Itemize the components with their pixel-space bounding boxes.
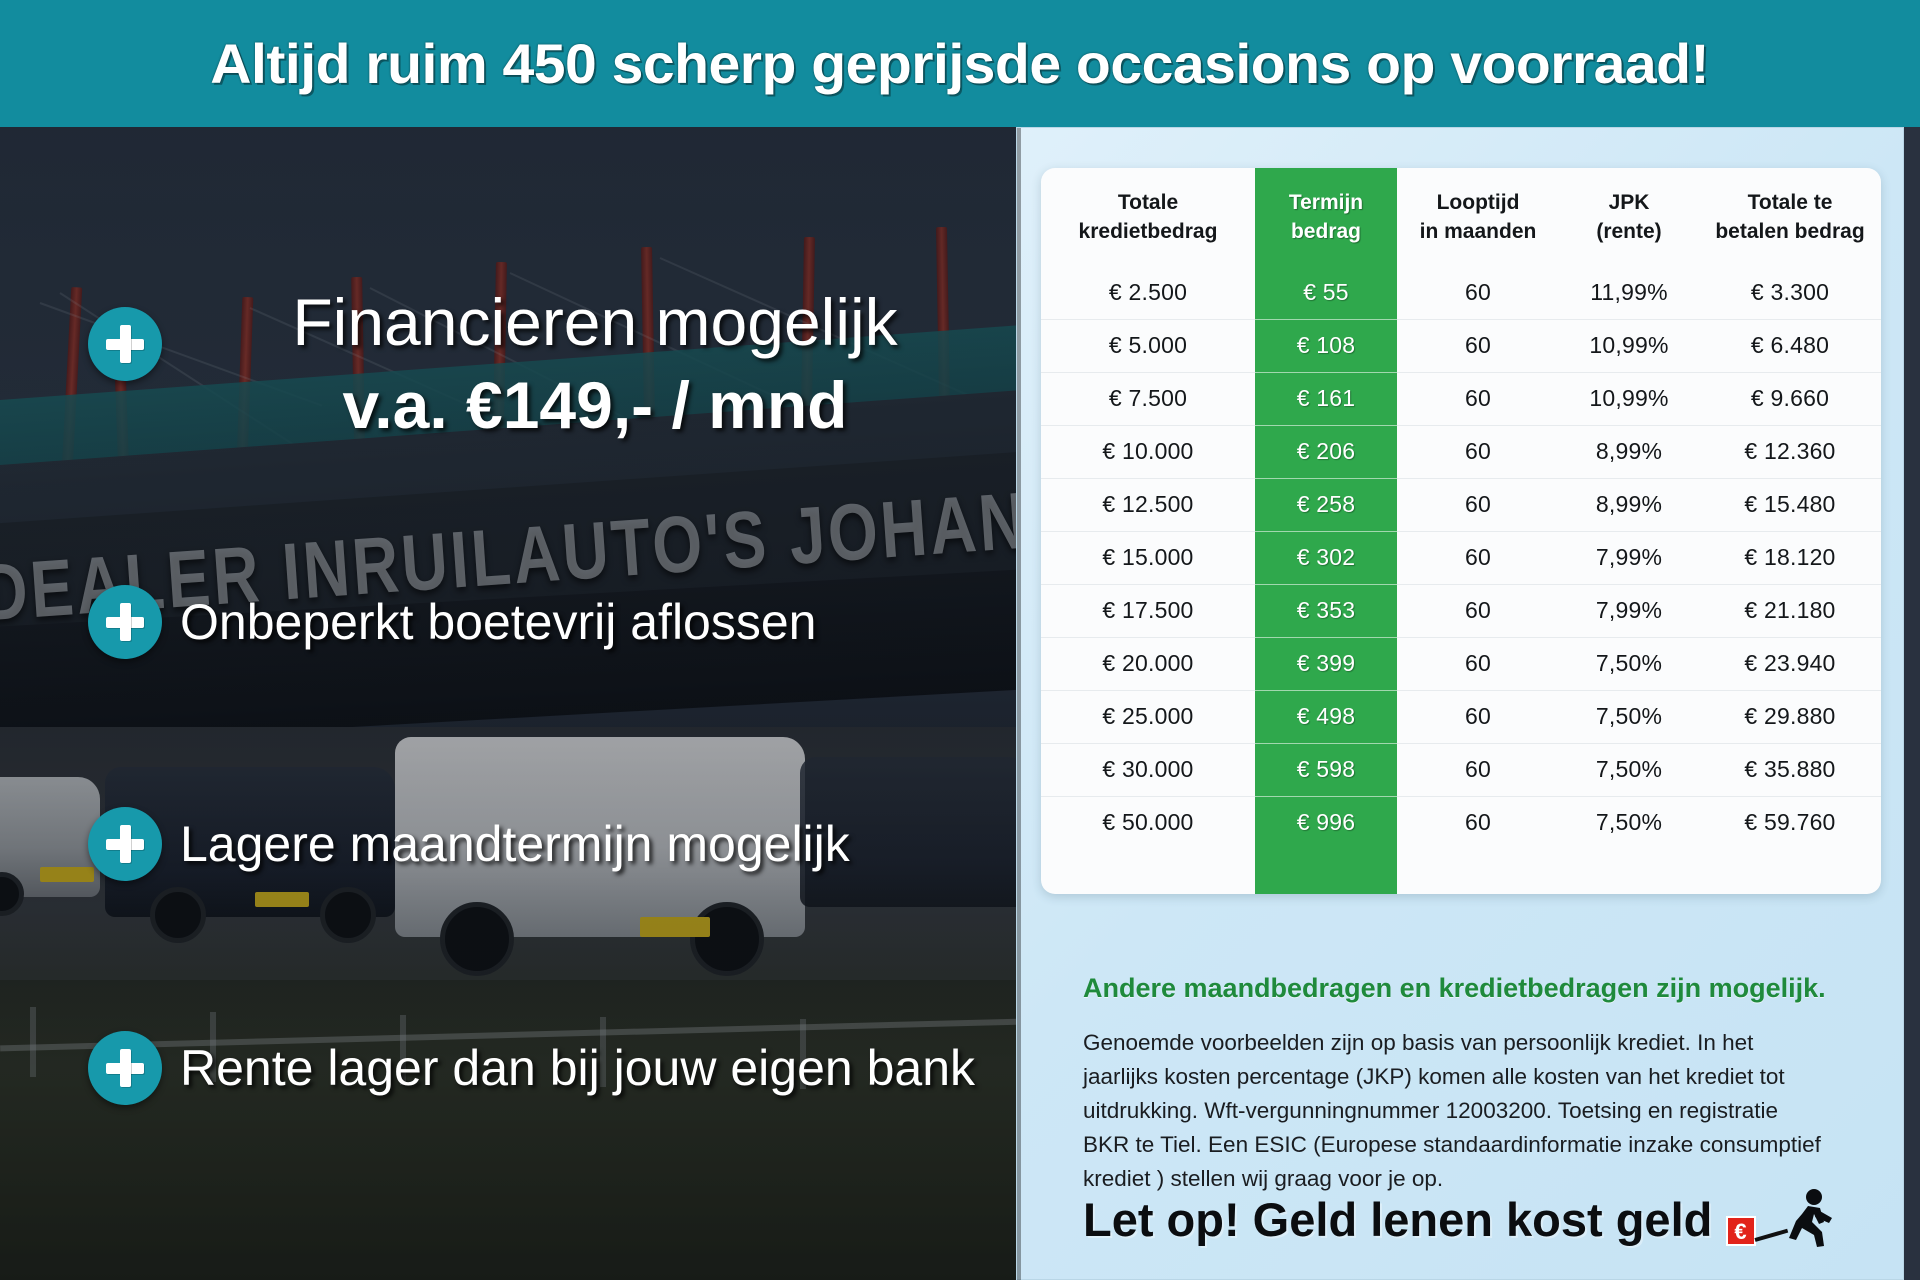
table-cell: 7,99% bbox=[1559, 584, 1699, 637]
table-cell: € 7.500 bbox=[1041, 372, 1255, 425]
table-cell: 8,99% bbox=[1559, 478, 1699, 531]
table-cell: € 9.660 bbox=[1699, 372, 1881, 425]
table-header-row: Totale kredietbedrag Termijn bedrag Loop… bbox=[1041, 168, 1881, 266]
table-cell: 60 bbox=[1397, 266, 1559, 319]
table-row: € 15.000€ 302607,99%€ 18.120 bbox=[1041, 531, 1881, 584]
table-cell: € 15.000 bbox=[1041, 531, 1255, 584]
table-cell: € 353 bbox=[1255, 584, 1397, 637]
table-row: € 10.000€ 206608,99%€ 12.360 bbox=[1041, 425, 1881, 478]
benefit-item-3: Rente lager dan bij jouw eigen bank bbox=[180, 1039, 975, 1097]
page-title: Financieren mogelijk v.a. €149,- / mnd bbox=[180, 282, 1010, 448]
table-cell: € 996 bbox=[1255, 796, 1397, 849]
table-cell: € 17.500 bbox=[1041, 584, 1255, 637]
table-cell: € 12.360 bbox=[1699, 425, 1881, 478]
table-cell: € 12.500 bbox=[1041, 478, 1255, 531]
table-cell: 7,50% bbox=[1559, 743, 1699, 796]
top-banner: Altijd ruim 450 scherp geprijsde occasio… bbox=[0, 0, 1920, 127]
table-cell: € 498 bbox=[1255, 690, 1397, 743]
plus-icon bbox=[88, 807, 162, 881]
column-header-looptijd: Looptijd in maanden bbox=[1397, 168, 1559, 266]
table-cell: 10,99% bbox=[1559, 372, 1699, 425]
benefit-item-2: Lagere maandtermijn mogelijk bbox=[180, 815, 850, 873]
left-content: Financieren mogelijk v.a. €149,- / mnd O… bbox=[0, 127, 1018, 1280]
table-row: € 2.500€ 556011,99%€ 3.300 bbox=[1041, 266, 1881, 319]
column-header-termijn-bedrag: Termijn bedrag bbox=[1255, 168, 1397, 266]
panel-left-edge bbox=[1017, 128, 1021, 1280]
table-row: € 20.000€ 399607,50%€ 23.940 bbox=[1041, 637, 1881, 690]
advertisement-page: Altijd ruim 450 scherp geprijsde occasio… bbox=[0, 0, 1920, 1280]
table-cell: € 2.500 bbox=[1041, 266, 1255, 319]
table-cell: 60 bbox=[1397, 584, 1559, 637]
table-cell: € 59.760 bbox=[1699, 796, 1881, 849]
table-cell: 60 bbox=[1397, 319, 1559, 372]
finance-table-card: Totale kredietbedrag Termijn bedrag Loop… bbox=[1041, 168, 1881, 894]
table-cell: € 258 bbox=[1255, 478, 1397, 531]
table-row: € 50.000€ 996607,50%€ 59.760 bbox=[1041, 796, 1881, 849]
headline-line-1: Financieren mogelijk bbox=[180, 282, 1010, 362]
table-cell: € 302 bbox=[1255, 531, 1397, 584]
table-cell: 11,99% bbox=[1559, 266, 1699, 319]
table-cell: 8,99% bbox=[1559, 425, 1699, 478]
table-cell: € 399 bbox=[1255, 637, 1397, 690]
table-cell: 7,50% bbox=[1559, 796, 1699, 849]
finance-table: Totale kredietbedrag Termijn bedrag Loop… bbox=[1041, 168, 1881, 849]
table-cell: € 5.000 bbox=[1041, 319, 1255, 372]
warning-block: Let op! Geld lenen kost geld € bbox=[1083, 1188, 1893, 1250]
table-row: € 12.500€ 258608,99%€ 15.480 bbox=[1041, 478, 1881, 531]
table-cell: 7,99% bbox=[1559, 531, 1699, 584]
main-stage: DEALER INRUILAUTO'S JOHAN MEURE ALTIJD 4… bbox=[0, 127, 1920, 1280]
table-row: € 5.000€ 1086010,99%€ 6.480 bbox=[1041, 319, 1881, 372]
table-cell: € 21.180 bbox=[1699, 584, 1881, 637]
money-block: € bbox=[1726, 1216, 1756, 1246]
column-header-jpk: JPK (rente) bbox=[1559, 168, 1699, 266]
table-cell: € 108 bbox=[1255, 319, 1397, 372]
headline-line-2: v.a. €149,- / mnd bbox=[180, 362, 1010, 448]
table-row: € 25.000€ 498607,50%€ 29.880 bbox=[1041, 690, 1881, 743]
table-cell: € 29.880 bbox=[1699, 690, 1881, 743]
table-cell: € 30.000 bbox=[1041, 743, 1255, 796]
table-row: € 17.500€ 353607,99%€ 21.180 bbox=[1041, 584, 1881, 637]
benefit-item-1: Onbeperkt boetevrij aflossen bbox=[180, 593, 816, 651]
table-cell: € 50.000 bbox=[1041, 796, 1255, 849]
disclaimer-body: Genoemde voorbeelden zijn op basis van p… bbox=[1083, 1026, 1823, 1196]
table-row: € 30.000€ 598607,50%€ 35.880 bbox=[1041, 743, 1881, 796]
table-cell: € 55 bbox=[1255, 266, 1397, 319]
table-cell: 7,50% bbox=[1559, 690, 1699, 743]
table-cell: € 598 bbox=[1255, 743, 1397, 796]
table-cell: € 3.300 bbox=[1699, 266, 1881, 319]
table-cell: € 15.480 bbox=[1699, 478, 1881, 531]
table-cell: € 25.000 bbox=[1041, 690, 1255, 743]
banner-headline: Altijd ruim 450 scherp geprijsde occasio… bbox=[211, 31, 1710, 96]
column-header-totale-te-betalen: Totale te betalen bedrag bbox=[1699, 168, 1881, 266]
table-cell: € 23.940 bbox=[1699, 637, 1881, 690]
table-cell: 7,50% bbox=[1559, 637, 1699, 690]
table-cell: € 35.880 bbox=[1699, 743, 1881, 796]
table-cell: 60 bbox=[1397, 637, 1559, 690]
walking-man-with-money-block-icon: € bbox=[1726, 1188, 1836, 1250]
table-cell: 60 bbox=[1397, 531, 1559, 584]
table-cell: 60 bbox=[1397, 425, 1559, 478]
finance-table-body: € 2.500€ 556011,99%€ 3.300€ 5.000€ 10860… bbox=[1041, 266, 1881, 849]
plus-icon bbox=[88, 1031, 162, 1105]
disclaimer-title: Andere maandbedragen en kredietbedragen … bbox=[1083, 973, 1883, 1004]
table-cell: 60 bbox=[1397, 478, 1559, 531]
table-cell: € 161 bbox=[1255, 372, 1397, 425]
table-cell: € 18.120 bbox=[1699, 531, 1881, 584]
table-cell: 60 bbox=[1397, 372, 1559, 425]
table-cell: € 10.000 bbox=[1041, 425, 1255, 478]
table-cell: 60 bbox=[1397, 796, 1559, 849]
table-cell: € 206 bbox=[1255, 425, 1397, 478]
walking-man-shape bbox=[1778, 1188, 1836, 1250]
table-cell: € 20.000 bbox=[1041, 637, 1255, 690]
column-header-totale-kredietbedrag: Totale kredietbedrag bbox=[1041, 168, 1255, 266]
table-cell: 60 bbox=[1397, 743, 1559, 796]
table-row: € 7.500€ 1616010,99%€ 9.660 bbox=[1041, 372, 1881, 425]
warning-text: Let op! Geld lenen kost geld bbox=[1083, 1192, 1712, 1247]
table-cell: 10,99% bbox=[1559, 319, 1699, 372]
finance-info-panel: Totale kredietbedrag Termijn bedrag Loop… bbox=[1016, 127, 1904, 1280]
table-cell: 60 bbox=[1397, 690, 1559, 743]
table-cell: € 6.480 bbox=[1699, 319, 1881, 372]
plus-icon bbox=[88, 307, 162, 381]
plus-icon bbox=[88, 585, 162, 659]
